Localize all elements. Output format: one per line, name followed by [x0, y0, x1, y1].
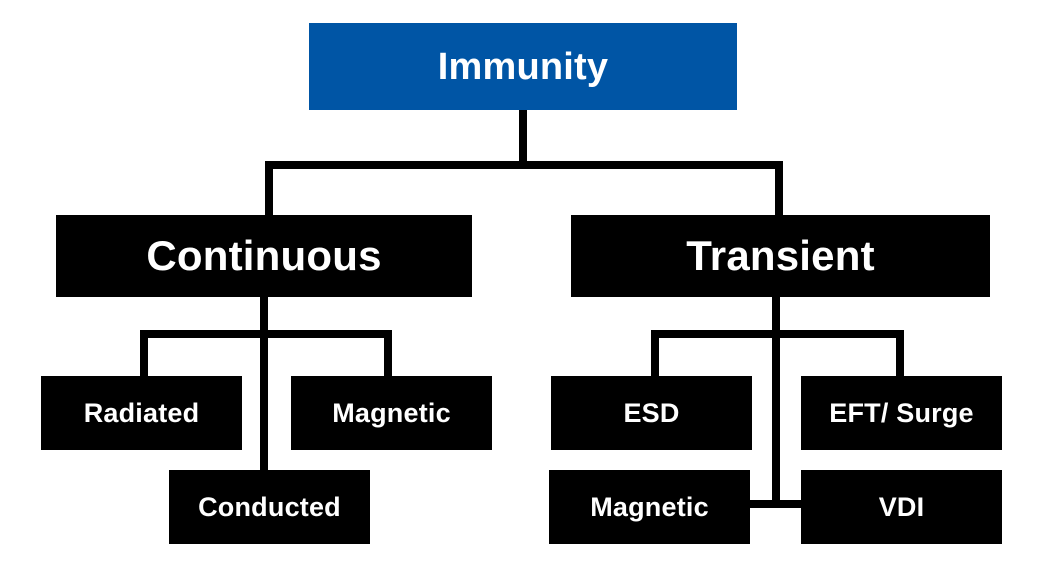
- node-transient-vdi[interactable]: VDI: [801, 470, 1002, 544]
- connector-conducted-stem: [260, 330, 268, 472]
- connector-root-stem: [519, 110, 527, 168]
- connector-bottom-crossbar: [744, 500, 808, 508]
- connector-continuous-drop-left: [140, 330, 148, 378]
- node-immunity[interactable]: Immunity: [309, 23, 737, 110]
- diagram-canvas: ImmunityContinuousTransientRadiatedMagne…: [0, 0, 1046, 569]
- node-transient-esd[interactable]: ESD: [551, 376, 752, 450]
- connector-transient-drop-left: [651, 330, 659, 378]
- node-transient-eft-surge[interactable]: EFT/ Surge: [801, 376, 1002, 450]
- node-continuous-conducted[interactable]: Conducted: [169, 470, 370, 544]
- node-continuous[interactable]: Continuous: [56, 215, 472, 297]
- connector-root-crossbar: [265, 161, 783, 169]
- connector-continuous-drop-right: [384, 330, 392, 378]
- connector-root-drop-right: [775, 161, 783, 217]
- node-continuous-radiated[interactable]: Radiated: [41, 376, 242, 450]
- connector-root-drop-left: [265, 161, 273, 217]
- connector-transient-drop-right: [896, 330, 904, 378]
- connector-transient-stem: [772, 295, 780, 333]
- node-transient[interactable]: Transient: [571, 215, 990, 297]
- node-continuous-magnetic[interactable]: Magnetic: [291, 376, 492, 450]
- connector-continuous-stem: [260, 295, 268, 333]
- node-transient-magnetic[interactable]: Magnetic: [549, 470, 750, 544]
- connector-transient-lower-stem: [772, 330, 780, 508]
